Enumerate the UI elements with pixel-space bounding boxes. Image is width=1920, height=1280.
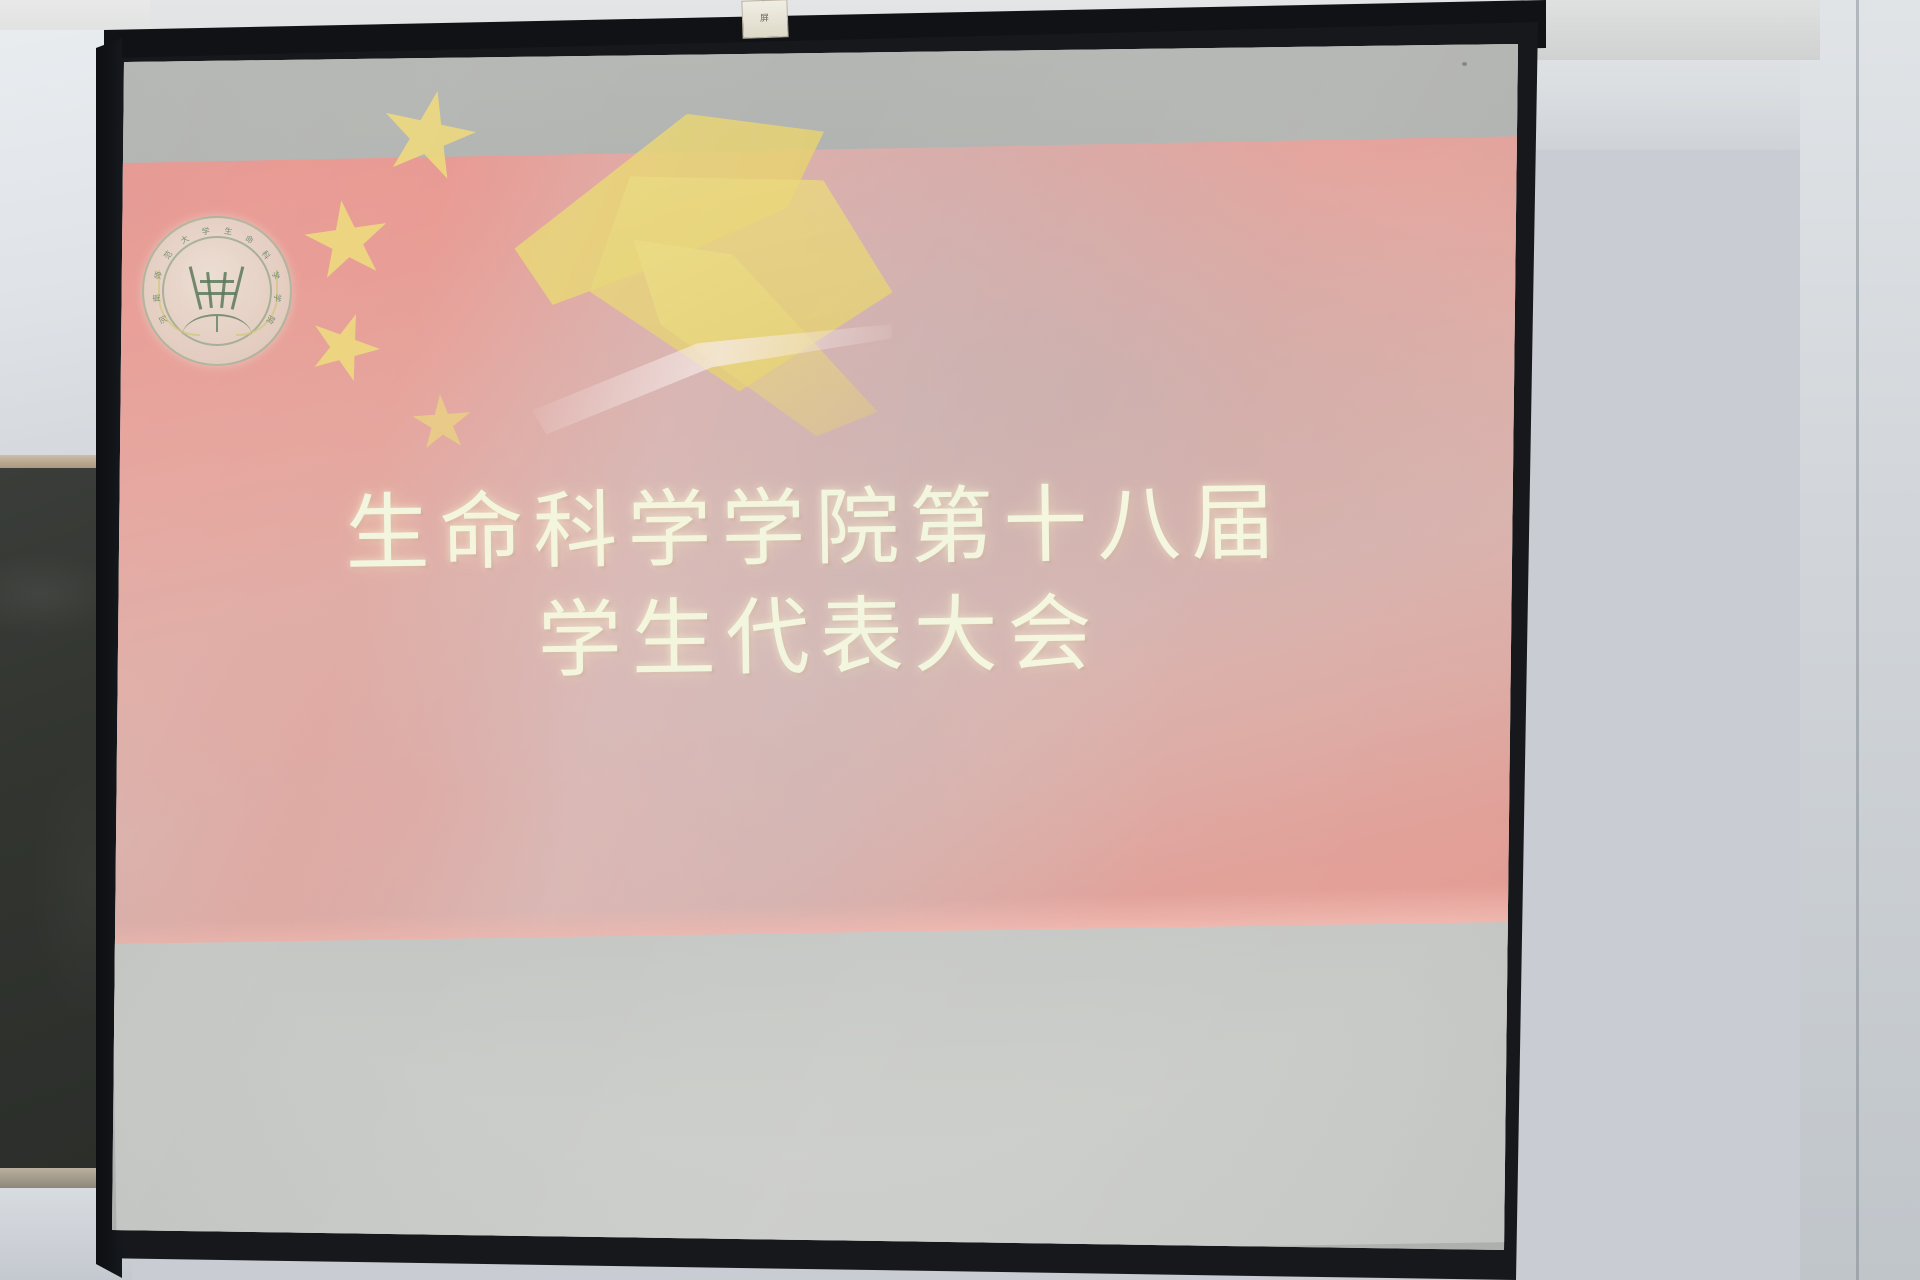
- slide-title: 生命科学学院第十八届 学生代表大会: [112, 465, 1520, 701]
- upper-wall-right: [1520, 0, 1820, 60]
- slide-letterbox-bottom: [112, 922, 1520, 1254]
- wall-seam-line: [1856, 0, 1859, 1280]
- star-large: [472, 74, 932, 404]
- presentation-slide: 河南师范大学生命科学学院 生命科学学院第十八届 学生代表大会: [112, 44, 1520, 1254]
- emblem-ring-text: 河南师范大学生命科学学院: [144, 218, 290, 364]
- slide-title-line-1: 生命科学学院第十八届: [112, 465, 1520, 591]
- screen-tag-label: 屏: [743, 10, 787, 25]
- projection-screen-surface: 河南师范大学生命科学学院 生命科学学院第十八届 学生代表大会: [112, 44, 1520, 1254]
- university-emblem: 河南师范大学生命科学学院: [142, 216, 292, 366]
- screen-dust-speck: [1462, 62, 1467, 66]
- classroom-scene: 屏: [0, 0, 1920, 1280]
- slide-title-line-2: 学生代表大会: [112, 575, 1520, 701]
- screen-hanging-tag: 屏: [741, 0, 788, 39]
- right-wall: [1800, 0, 1920, 1280]
